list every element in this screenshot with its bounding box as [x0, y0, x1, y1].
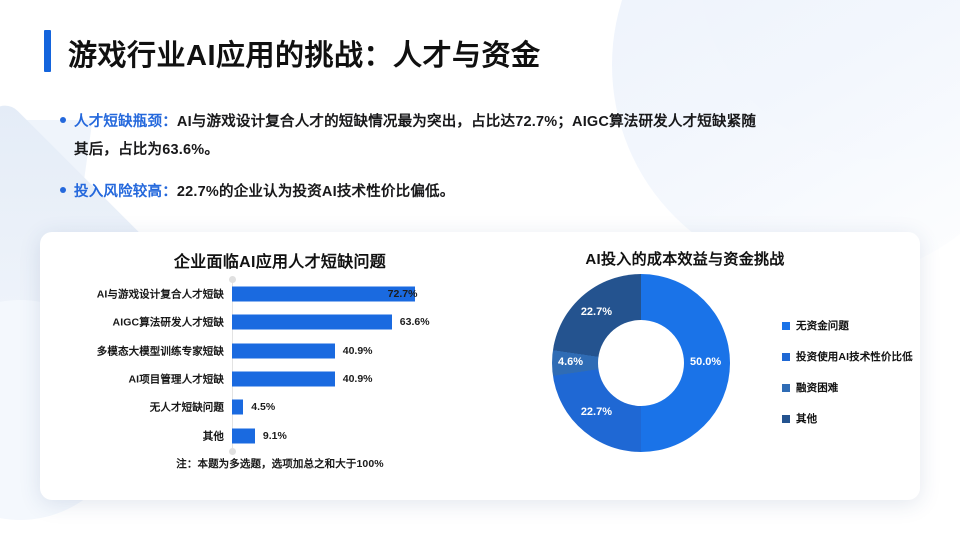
legend-label: 投资使用AI技术性价比低: [796, 349, 913, 364]
legend-label: 其他: [796, 411, 817, 426]
legend-item[interactable]: 其他: [782, 411, 922, 426]
donut-slice-label: 22.7%: [581, 306, 612, 318]
bar-chart-title: 企业面临AI应用人才短缺问题: [40, 248, 520, 272]
bar-value-label: 63.6%: [400, 316, 430, 328]
bar-category-label: AI与游戏设计复合人才短缺: [40, 287, 224, 302]
title-accent-bar: [44, 30, 51, 72]
bullet-lead-label: 人才短缺瓶颈：: [74, 114, 177, 130]
bullet-item-risk: 投入风险较高：22.7%的企业认为投资AI技术性价比偏低。: [0, 178, 960, 206]
bar-value-label: 40.9%: [343, 373, 373, 385]
bullet-item-talent: 人才短缺瓶颈：AI与游戏设计复合人才的短缺情况最为突出，占比达72.7%；AIG…: [0, 108, 960, 165]
bar-row: 多模态大模型训练专家短缺40.9%: [40, 337, 520, 365]
bar-fill: [232, 428, 255, 443]
bar-chart-note: 注：本题为多选题，选项加总之和大于100%: [40, 456, 520, 471]
bar-chart: 企业面临AI应用人才短缺问题 AI与游戏设计复合人才短缺72.7%AIGC算法研…: [40, 232, 520, 500]
legend-item[interactable]: 无资金问题: [782, 318, 922, 333]
bullet-dot-icon: [60, 117, 66, 123]
bar-value-label: 40.9%: [343, 345, 373, 357]
bullet-body-text: AI与游戏设计复合人才的短缺情况最为突出，占比达72.7%；AIGC算法研发人才…: [177, 114, 756, 130]
bar-row: 其他9.1%: [40, 422, 520, 450]
header: 游戏行业AI应用的挑战：人才与资金: [0, 0, 960, 100]
bullet-line-2: 其后，占比为63.6%。: [74, 136, 960, 164]
donut-chart-title: AI投入的成本效益与资金挑战: [520, 248, 850, 269]
bar-row: 无人才短缺问题4.5%: [40, 393, 520, 421]
bar-fill: [232, 400, 243, 415]
legend-label: 无资金问题: [796, 318, 849, 333]
bullet-lead-label: 投入风险较高：: [74, 184, 177, 200]
legend-swatch-icon: [782, 322, 790, 330]
donut-chart: AI投入的成本效益与资金挑战 50.0%22.7%4.6%22.7% 无资金问题…: [520, 232, 920, 500]
legend-label: 融资困难: [796, 380, 838, 395]
bar-fill: [232, 372, 335, 387]
bullet-dot-icon: [60, 187, 66, 193]
bar-category-label: AI项目管理人才短缺: [40, 372, 224, 387]
legend-swatch-icon: [782, 353, 790, 361]
bar-fill: [232, 343, 335, 358]
bar-row: AI项目管理人才短缺40.9%: [40, 365, 520, 393]
bullet-line-1: 投入风险较高：22.7%的企业认为投资AI技术性价比偏低。: [74, 178, 960, 206]
donut-slice-label: 22.7%: [581, 406, 612, 418]
legend-item[interactable]: 投资使用AI技术性价比低: [782, 349, 922, 364]
bar-category-label: 无人才短缺问题: [40, 400, 224, 415]
page-title: 游戏行业AI应用的挑战：人才与资金: [68, 32, 541, 74]
bar-row: AIGC算法研发人才短缺63.6%: [40, 308, 520, 336]
bar-row: AI与游戏设计复合人才短缺72.7%: [40, 280, 520, 308]
bar-category-label: AIGC算法研发人才短缺: [40, 315, 224, 330]
legend-swatch-icon: [782, 384, 790, 392]
bar-category-label: 多模态大模型训练专家短缺: [40, 343, 224, 358]
donut-slice-label: 4.6%: [558, 356, 583, 368]
bar-fill: [232, 315, 392, 330]
donut-slice-label: 50.0%: [690, 356, 721, 368]
bullet-list: 人才短缺瓶颈：AI与游戏设计复合人才的短缺情况最为突出，占比达72.7%；AIG…: [0, 108, 960, 219]
bullet-line-1: 人才短缺瓶颈：AI与游戏设计复合人才的短缺情况最为突出，占比达72.7%；AIG…: [74, 108, 960, 136]
legend-swatch-icon: [782, 415, 790, 423]
bar-value-label: 72.7%: [388, 288, 418, 300]
bullet-body-text: 22.7%的企业认为投资AI技术性价比偏低。: [177, 184, 455, 200]
donut-chart-plot-area: 50.0%22.7%4.6%22.7%: [552, 274, 730, 452]
bar-chart-plot-area: AI与游戏设计复合人才短缺72.7%AIGC算法研发人才短缺63.6%多模态大模…: [40, 280, 520, 450]
legend-item[interactable]: 融资困难: [782, 380, 922, 395]
bar-value-label: 9.1%: [263, 430, 287, 442]
donut-center-hole: [598, 320, 684, 406]
bar-category-label: 其他: [40, 428, 224, 443]
donut-chart-legend: 无资金问题投资使用AI技术性价比低融资困难其他: [782, 318, 922, 442]
bar-value-label: 4.5%: [251, 401, 275, 413]
charts-card: 企业面临AI应用人才短缺问题 AI与游戏设计复合人才短缺72.7%AIGC算法研…: [40, 232, 920, 500]
